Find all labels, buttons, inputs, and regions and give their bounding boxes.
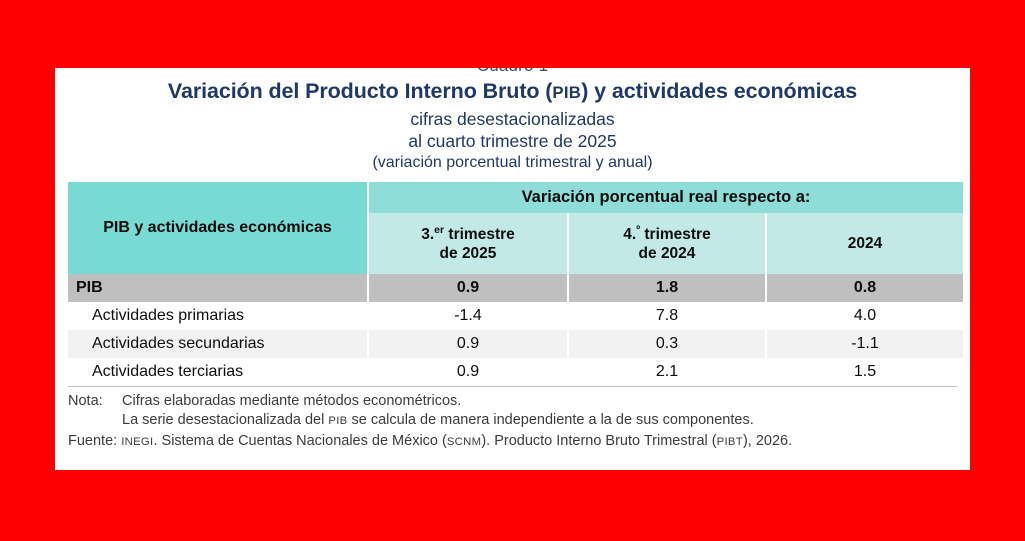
note-text-1: Cifras elaboradas mediante métodos econo… (122, 392, 957, 411)
page-title: Variación del Producto Interno Bruto (PI… (75, 78, 950, 106)
table-wrapper: PIB y actividades económicas Variación p… (68, 182, 957, 386)
title-text-part1: Variación del Producto Interno Bruto ( (168, 79, 552, 103)
source-line: Fuente: INEGI. Sistema de Cuentas Nacion… (68, 432, 957, 452)
header-group-label: Variación porcentual real respecto a: (368, 182, 963, 213)
table-row: Actividades terciarias 0.9 2.1 1.5 (68, 358, 963, 386)
table-head: PIB y actividades económicas Variación p… (68, 182, 963, 274)
row-label-primarias: Actividades primarias (68, 302, 368, 330)
cuadro-label: Cuadro 1 (75, 68, 950, 76)
cell-primarias-q4: 7.8 (568, 302, 766, 330)
table-notes: Nota: Cifras elaboradas mediante métodos… (68, 386, 957, 452)
note-text-2b: se calcula de manera independiente a la … (347, 412, 753, 428)
table-row: Actividades primarias -1.4 7.8 4.0 (68, 302, 963, 330)
row-label-pib: PIB (68, 274, 368, 302)
cell-pib-q4: 1.8 (568, 274, 766, 302)
col-q3-year: de 2025 (440, 245, 497, 262)
cell-secundarias-q4: 0.3 (568, 330, 766, 358)
source-label: Fuente: (68, 433, 117, 449)
source-text-3: ), 2026. (743, 433, 792, 449)
subtitle-line-1: cifras desestacionalizadas (75, 108, 950, 130)
col-q4-num: 4. (623, 226, 636, 243)
note-text-2a: La serie desestacionalizada del (122, 412, 328, 428)
column-header-q3-2025: 3.er trimestre de 2025 (368, 213, 568, 274)
subtitle-line-3: (variación porcentual trimestral y anual… (75, 152, 950, 174)
row-label-secundarias: Actividades secundarias (68, 330, 368, 358)
title-acronym-pib: PIB (552, 83, 581, 102)
source-acronym-pibt: PIBT (717, 436, 743, 448)
col-q4-rest: trimestre (640, 226, 711, 243)
table-sheet: Cuadro 1 Variación del Producto Interno … (55, 68, 970, 470)
note-line-2: La serie desestacionalizada del PIB se c… (68, 411, 957, 431)
source-acronym-inegi: INEGI (121, 436, 153, 448)
table-row: PIB 0.9 1.8 0.8 (68, 274, 963, 302)
note-label: Nota: (68, 392, 122, 411)
title-block: Cuadro 1 Variación del Producto Interno … (55, 68, 970, 174)
table-body: PIB 0.9 1.8 0.8 Actividades primarias -1… (68, 274, 963, 386)
col-year-2024: 2024 (848, 235, 882, 252)
header-row-label: PIB y actividades económicas (68, 182, 368, 274)
col-q3-num: 3. (421, 226, 434, 243)
cell-secundarias-2024: -1.1 (766, 330, 963, 358)
source-text-2: ). Producto Interno Bruto Trimestral ( (481, 433, 716, 449)
title-text-part2: ) y actividades económicas (581, 79, 857, 103)
subtitle-line-2: al cuarto trimestre de 2025 (75, 130, 950, 152)
cell-pib-2024: 0.8 (766, 274, 963, 302)
cell-primarias-2024: 4.0 (766, 302, 963, 330)
col-q3-ordinal: er (434, 223, 444, 235)
note-line-1: Nota: Cifras elaboradas mediante métodos… (68, 392, 957, 411)
col-q3-rest: trimestre (444, 226, 515, 243)
cell-terciarias-q3: 0.9 (368, 358, 568, 386)
source-acronym-scnm: SCNM (447, 436, 481, 448)
source-text-1: . Sistema de Cuentas Nacionales de Méxic… (153, 433, 446, 449)
cell-primarias-q3: -1.4 (368, 302, 568, 330)
cell-pib-q3: 0.9 (368, 274, 568, 302)
column-header-2024: 2024 (766, 213, 963, 274)
note-acronym-pib: PIB (328, 415, 347, 427)
data-table: PIB y actividades económicas Variación p… (68, 182, 963, 386)
cell-terciarias-2024: 1.5 (766, 358, 963, 386)
cell-terciarias-q4: 2.1 (568, 358, 766, 386)
column-header-q4-2024: 4.º trimestre de 2024 (568, 213, 766, 274)
table-row: Actividades secundarias 0.9 0.3 -1.1 (68, 330, 963, 358)
row-label-terciarias: Actividades terciarias (68, 358, 368, 386)
cell-secundarias-q3: 0.9 (368, 330, 568, 358)
col-q4-year: de 2024 (639, 245, 696, 262)
table-head-row-1: PIB y actividades económicas Variación p… (68, 182, 963, 213)
